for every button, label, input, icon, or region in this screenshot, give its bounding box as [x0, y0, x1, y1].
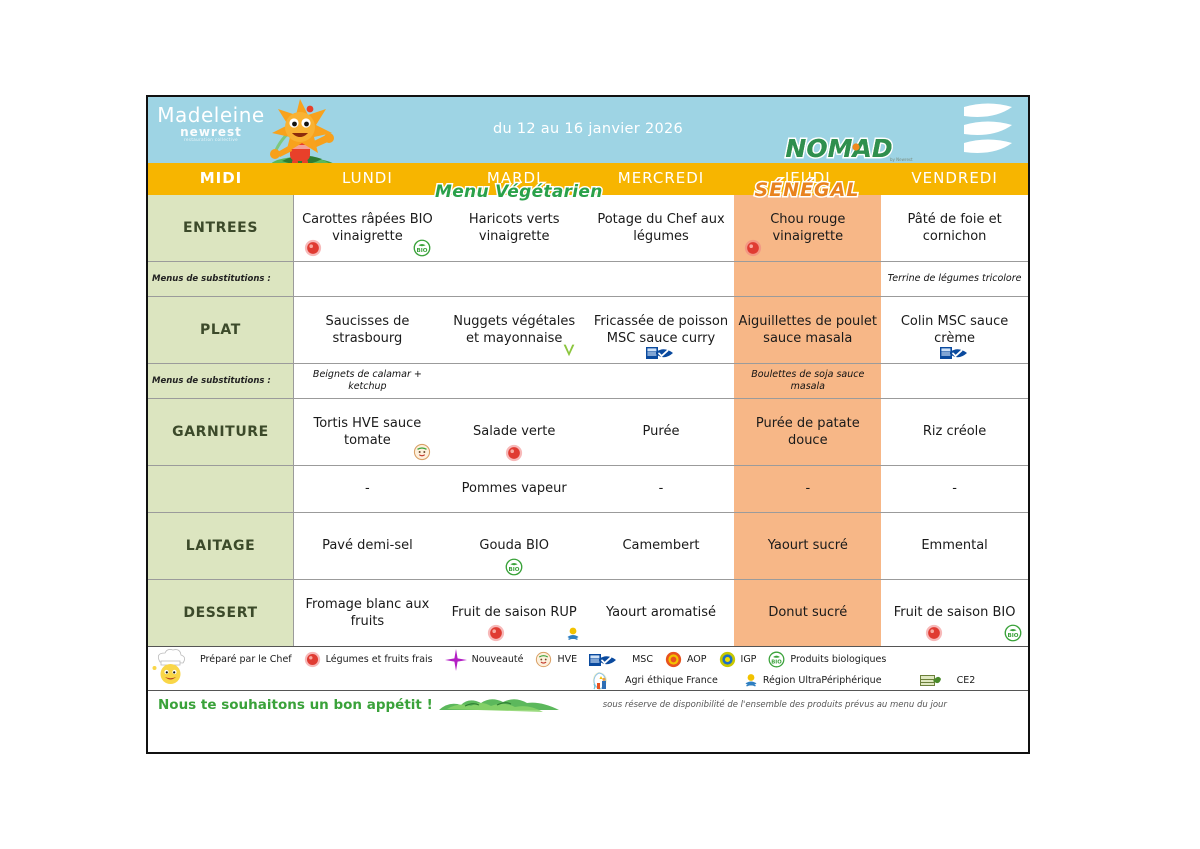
cell-garniture-alt-vendredi: - [881, 466, 1028, 512]
bon-appetit-message: Nous te souhaitons un bon appétit ! [158, 697, 433, 713]
cell-sub-plat-mercredi [588, 364, 735, 398]
cell-sub-entrees-vendredi: Terrine de légumes tricolore [881, 262, 1028, 296]
cell-laitage-jeudi: Yaourt sucré [734, 513, 881, 579]
country-theme-badge: SÉNÉGAL [733, 179, 881, 201]
day-header-lundi: LUNDI [294, 163, 441, 195]
category-label-laitage: LAITAGE [148, 513, 294, 579]
substitution-dish: Boulettes de soja sauce masala [738, 369, 877, 394]
dish-name: Yaourt aromatisé [592, 604, 731, 621]
aop-icon [665, 651, 682, 668]
legend-item-agri-ethique: Agri éthique France [590, 670, 718, 692]
cell-garniture-vendredi: Riz créole [881, 399, 1028, 465]
dish-name: Emmental [885, 537, 1024, 554]
category-label-substitutions: Menus de substitutions : [148, 364, 294, 398]
table-row-garniture-alt: - Pommes vapeur - - - [148, 466, 1028, 513]
legend-label-msc: MSC [632, 654, 653, 665]
cell-dessert-mercredi: Yaourt aromatisé [588, 580, 735, 646]
legend-label-hve: HVE [557, 654, 577, 665]
legend-item-ce2: CE2 [920, 673, 976, 688]
cell-entrees-jeudi: Chou rouge vinaigrette [734, 195, 881, 261]
cell-laitage-mercredi: Camembert [588, 513, 735, 579]
dish-name: Pâté de foie et cornichon [885, 211, 1024, 245]
cell-dessert-lundi: Fromage blanc aux fruits [294, 580, 441, 646]
substitution-dish: Terrine de légumes tricolore [885, 273, 1024, 285]
cell-plat-vendredi: Colin MSC sauce crème [881, 297, 1028, 363]
cell-sub-entrees-mardi [441, 262, 588, 296]
cell-dessert-mardi: Fruit de saison RUP [441, 580, 588, 646]
dish-name: Pommes vapeur [445, 480, 584, 497]
dish-name: Pavé demi-sel [298, 537, 437, 554]
table-row-entrees: ENTREES Carottes râpées BIO vinaigrette … [148, 195, 1028, 262]
service-label-midi: MIDI [148, 163, 294, 195]
svg-text:BIO: BIO [1007, 633, 1018, 639]
cell-laitage-lundi: Pavé demi-sel [294, 513, 441, 579]
table-row-garniture: GARNITURE Tortis HVE sauce tomate Salade… [148, 399, 1028, 466]
cell-laitage-vendredi: Emmental [881, 513, 1028, 579]
star-icon [445, 649, 467, 671]
dish-name: Camembert [592, 537, 731, 554]
cell-entrees-lundi: Carottes râpées BIO vinaigrette BIO [294, 195, 441, 261]
svg-text:BIO: BIO [416, 248, 427, 254]
cell-plat-mardi: Nuggets végétales et mayonnaise [441, 297, 588, 363]
dish-name: Potage du Chef aux légumes [592, 211, 731, 245]
legend-item-fresh: Légumes et fruits frais [304, 651, 433, 668]
msc-icon [940, 346, 970, 360]
bio-icon: BIO [1004, 624, 1022, 642]
hve-icon [535, 651, 552, 668]
cell-entrees-vendredi: Pâté de foie et cornichon [881, 195, 1028, 261]
legend-label-agri-ethique: Agri éthique France [625, 675, 718, 686]
cell-garniture-alt-mardi: Pommes vapeur [441, 466, 588, 512]
day-header-mercredi: MERCREDI [588, 163, 735, 195]
table-row-substitutions-entrees: Menus de substitutions : Terrine de légu… [148, 262, 1028, 297]
legend-label-chef: Préparé par le Chef [200, 654, 292, 665]
cell-garniture-mardi: Salade verte [441, 399, 588, 465]
tomato-icon [487, 624, 505, 642]
dish-name: - [885, 480, 1024, 497]
legend-label-aop: AOP [687, 654, 707, 665]
cell-plat-lundi: Saucisses de strasbourg [294, 297, 441, 363]
legend-row-2: Agri éthique France Région UltraPériphér… [148, 670, 1028, 691]
legend-item-chef: Préparé par le Chef [200, 654, 292, 665]
legend-row-1: Préparé par le Chef Légumes et fruits fr… [148, 649, 1028, 670]
cell-sub-plat-mardi [441, 364, 588, 398]
cell-garniture-alt-jeudi: - [734, 466, 881, 512]
cell-entrees-mardi: Haricots verts vinaigrette [441, 195, 588, 261]
cell-garniture-alt-mercredi: - [588, 466, 735, 512]
tomato-icon [304, 651, 321, 668]
cell-entrees-mercredi: Potage du Chef aux légumes [588, 195, 735, 261]
legend-label-new: Nouveauté [472, 654, 524, 665]
rup-icon [744, 672, 758, 689]
svg-text:NOMAD: NOMAD [785, 134, 892, 163]
hve-icon [413, 443, 431, 461]
vegetarian-menu-badge: Menu Végétarien [435, 182, 603, 202]
legend-label-fresh: Légumes et fruits frais [326, 654, 433, 665]
dish-name: Salade verte [445, 423, 584, 440]
legend-item-hve: HVE [535, 651, 577, 668]
tomato-icon [505, 444, 523, 462]
legend-item-rup: Région UltraPériphérique [744, 672, 882, 689]
cell-plat-mercredi: Fricassée de poisson MSC sauce curry [588, 297, 735, 363]
tomato-icon [925, 624, 943, 642]
cell-sub-plat-lundi: Beignets de calamar + ketchup [294, 364, 441, 398]
legend-item-aop: AOP [665, 651, 707, 668]
availability-disclaimer: sous réserve de disponibilité de l'ensem… [603, 700, 947, 710]
menu-footer: Nous te souhaitons un bon appétit ! sous… [148, 690, 1028, 719]
cell-garniture-lundi: Tortis HVE sauce tomate [294, 399, 441, 465]
salad-decoration-icon [435, 696, 565, 714]
table-row-substitutions-plat: Menus de substitutions : Beignets de cal… [148, 364, 1028, 399]
bio-icon: BIO [768, 651, 785, 668]
category-label-substitutions: Menus de substitutions : [148, 262, 294, 296]
vegetarian-menu-badge-label: Menu Végétarien [435, 182, 603, 202]
tomato-icon [744, 239, 762, 257]
dish-name: Riz créole [885, 423, 1024, 440]
dish-name: Saucisses de strasbourg [298, 313, 437, 347]
category-label-plat: PLAT [148, 297, 294, 363]
rup-icon [566, 626, 580, 642]
cell-garniture-alt-lundi: - [294, 466, 441, 512]
cell-laitage-mardi: Gouda BIO BIO [441, 513, 588, 579]
igp-icon [719, 651, 736, 668]
svg-text:by Newrest: by Newrest [890, 157, 913, 162]
msc-icon [589, 653, 619, 667]
legend-item-msc: MSC [589, 653, 653, 667]
legend-item-new: Nouveauté [445, 649, 524, 671]
newrest-leaf-logo-icon [948, 99, 1022, 159]
chef-icon [152, 649, 190, 687]
dish-name: Fromage blanc aux fruits [298, 596, 437, 630]
cell-sub-entrees-lundi [294, 262, 441, 296]
dish-name: Fricassée de poisson MSC sauce curry [592, 313, 731, 347]
svg-text:BIO: BIO [772, 659, 783, 665]
legend-item-igp: IGP [719, 651, 757, 668]
legend: Préparé par le Chef Légumes et fruits fr… [148, 646, 1028, 690]
vegetarian-v-icon [560, 341, 578, 359]
cell-garniture-jeudi: Purée de patate douce [734, 399, 881, 465]
dish-name: - [592, 480, 731, 497]
agri-ethique-icon [590, 670, 614, 692]
menu-grid: Menu Végétarien SÉNÉGAL ENTREES Carottes… [148, 195, 1028, 646]
dish-name: Donut sucré [738, 604, 877, 621]
brand-tagline: restauration collective [156, 138, 266, 142]
menu-header: Madeleine newrest restauration collectiv… [148, 97, 1028, 163]
bio-icon: BIO [505, 558, 523, 576]
legend-label-ce2: CE2 [957, 675, 976, 686]
dish-name: Gouda BIO [445, 537, 584, 554]
dish-name: Haricots verts vinaigrette [445, 211, 584, 245]
table-row-plat: PLAT Saucisses de strasbourg Nuggets vég… [148, 297, 1028, 364]
msc-icon [646, 346, 676, 360]
category-label-garniture-alt [148, 466, 294, 512]
cell-sub-entrees-jeudi [734, 262, 881, 296]
table-row-laitage: LAITAGE Pavé demi-sel Gouda BIO BIO Came… [148, 513, 1028, 580]
substitution-dish: Beignets de calamar + ketchup [298, 369, 437, 394]
category-label-dessert: DESSERT [148, 580, 294, 646]
cell-sub-entrees-mercredi [588, 262, 735, 296]
menu-sheet: Madeleine newrest restauration collectiv… [146, 95, 1030, 754]
bio-icon: BIO [413, 239, 431, 257]
legend-label-rup: Région UltraPériphérique [763, 675, 882, 686]
legend-item-bio: BIO Produits biologiques [768, 651, 886, 668]
category-label-garniture: GARNITURE [148, 399, 294, 465]
ce2-icon [920, 673, 942, 688]
legend-label-igp: IGP [741, 654, 757, 665]
dish-name: Yaourt sucré [738, 537, 877, 554]
dish-name: Purée de patate douce [738, 415, 877, 449]
cell-dessert-vendredi: Fruit de saison BIO BIO [881, 580, 1028, 646]
dish-name: Aiguillettes de poulet sauce masala [738, 313, 877, 347]
cell-plat-jeudi: Aiguillettes de poulet sauce masala [734, 297, 881, 363]
table-row-dessert: DESSERT Fromage blanc aux fruits Fruit d… [148, 580, 1028, 646]
cell-dessert-jeudi: Donut sucré [734, 580, 881, 646]
dish-name: Fruit de saison RUP [445, 604, 584, 621]
cell-sub-plat-jeudi: Boulettes de soja sauce masala [734, 364, 881, 398]
svg-text:BIO: BIO [509, 567, 520, 573]
dish-name: Colin MSC sauce crème [885, 313, 1024, 347]
legend-label-bio: Produits biologiques [790, 654, 886, 665]
category-label-entrees: ENTREES [148, 195, 294, 261]
dish-name: Purée [592, 423, 731, 440]
nomad-logo: NOMAD NOMAD by Newrest [764, 131, 914, 173]
cell-sub-plat-vendredi [881, 364, 1028, 398]
dish-name: - [738, 480, 877, 497]
tomato-icon [304, 239, 322, 257]
dish-name: Fruit de saison BIO [885, 604, 1024, 621]
cell-garniture-mercredi: Purée [588, 399, 735, 465]
dish-name: - [298, 480, 437, 497]
